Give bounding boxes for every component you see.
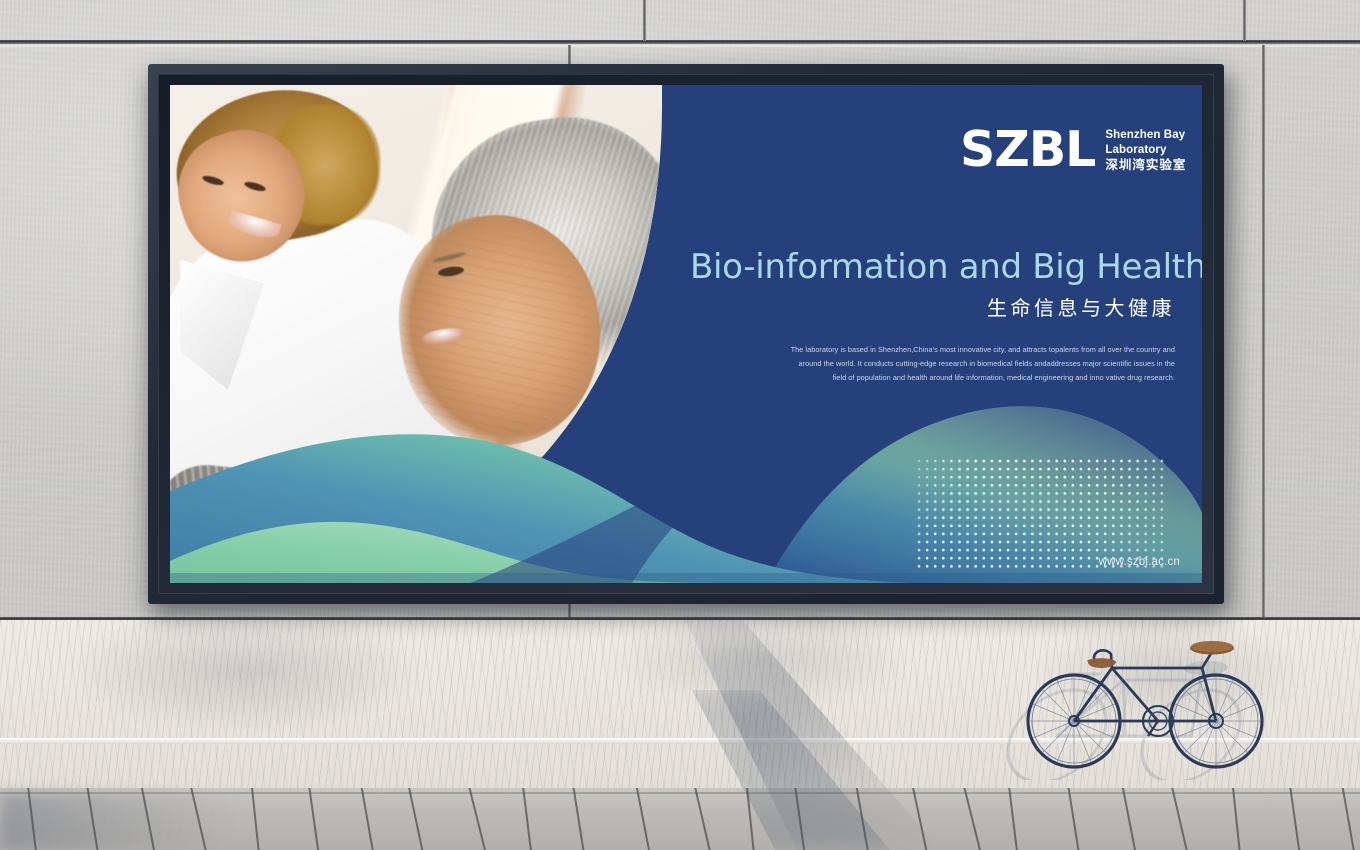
wall-seam-vertical-b [1243,0,1246,41]
logo-name-line2: Laboratory [1105,144,1186,158]
szbl-logo: SZBL Shenzhen Bay Laboratory 深圳湾实验室 [960,125,1186,174]
wave-base-band [170,573,1202,583]
logo-lockup-text: Shenzhen Bay Laboratory 深圳湾实验室 [1105,126,1186,173]
billboard-frame: SZBL Shenzhen Bay Laboratory 深圳湾实验室 Bio-… [148,64,1224,604]
poster-url: www.szbl.ac.cn [170,556,1180,568]
bicycle [1016,628,1296,773]
wall-seam-highlight-top [0,45,1360,47]
poster-headline: Bio-information and Big Health 生命信息与大健康 [690,247,1175,321]
wall-seam-horizontal-top [0,40,1360,44]
poster-body-text: The laboratory is based in Shenzhen,Chin… [787,343,1175,385]
scene-root: SZBL Shenzhen Bay Laboratory 深圳湾实验室 Bio-… [0,0,1360,850]
wall-seam-vertical-d [1262,45,1265,620]
headline-english: Bio-information and Big Health [690,247,1175,287]
logo-wordmark: SZBL [960,125,1095,174]
logo-name-line1: Shenzhen Bay [1105,129,1186,143]
poster: SZBL Shenzhen Bay Laboratory 深圳湾实验室 Bio-… [170,85,1202,583]
dot-grid-pattern [915,457,1165,569]
logo-name-chinese: 深圳湾实验室 [1105,158,1186,172]
ground-corner-shadow [0,792,330,850]
headline-chinese: 生命信息与大健康 [690,297,1175,321]
wall-seam-vertical-a [643,0,646,41]
